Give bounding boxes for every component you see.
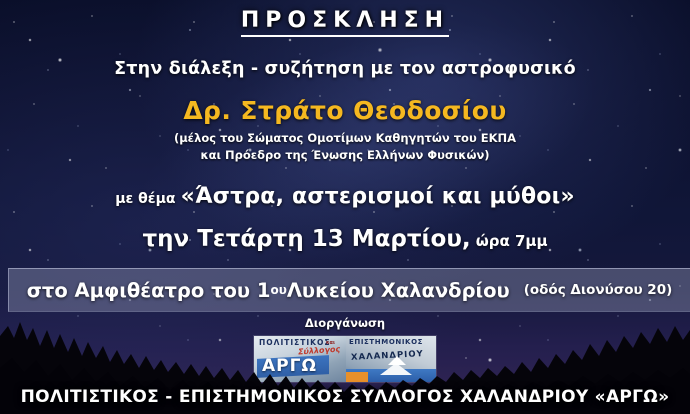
topic-line: με θέμα «Άστρα, αστερισμοί και μύθοι» [0, 184, 690, 209]
logo-orange-block [346, 372, 368, 382]
speaker-affiliation-line-2: και Πρόεδρο της Ένωσης Ελλήνων Φυσικών) [0, 148, 690, 162]
organizer-logo: ΠΟΛΙΤΙΣΤΙΚΟΣ και Σύλλογος ΕΠΙΣΤΗΜΟΝΙΚΟΣ … [254, 336, 436, 382]
date-line: την Τετάρτη 13 Μαρτίου, ώρα 7μμ [0, 226, 690, 252]
venue-address: (οδός Διονύσου 20) [524, 282, 673, 298]
speaker-name: Δρ. Στράτο Θεοδοσίου [0, 96, 690, 125]
lecture-intro-line: Στην διάλεξη - συζήτηση με τον αστροφυσι… [0, 59, 690, 79]
organizer-label: Διοργάνωση [0, 316, 690, 330]
topic-title: «Άστρα, αστερισμοί και μύθοι» [181, 184, 575, 209]
footer-organization-name: ΠΟΛΙΤΙΣΤΙΚΟΣ - ΕΠΙΣΤΗΜΟΝΙΚΟΣ ΣΥΛΛΟΓΟΣ ΧΑ… [0, 387, 690, 407]
logo-text-argo: ΑΡΓΩ [262, 356, 317, 376]
poster-canvas: ΠΡΟΣΚΛΗΣΗ Στην διάλεξη - συζήτηση με τον… [0, 0, 690, 414]
venue-banner: στο Αμφιθέατρο του 1ου Λυκείου Χαλανδρίο… [8, 268, 690, 312]
date-main: την Τετάρτη 13 Μαρτίου, [142, 226, 470, 252]
page-title: ΠΡΟΣΚΛΗΣΗ [0, 8, 690, 37]
venue-text-a: στο Αμφιθέατρο του 1 [27, 279, 271, 302]
topic-prefix: με θέμα [115, 191, 175, 207]
date-time: ώρα 7μμ [476, 232, 548, 250]
poster-content: ΠΡΟΣΚΛΗΣΗ Στην διάλεξη - συζήτηση με τον… [0, 0, 690, 414]
page-title-text: ΠΡΟΣΚΛΗΣΗ [241, 8, 449, 37]
speaker-affiliation-line-1: (μέλος του Σώματος Ομοτίμων Καθηγητών το… [0, 131, 690, 145]
venue-ordinal-suffix: ου [270, 283, 286, 297]
venue-text-b: Λυκείου Χαλανδρίου [287, 279, 510, 302]
logo-text-epistimonikos: ΕΠΙΣΤΗΜΟΝΙΚΟΣ [349, 338, 423, 346]
